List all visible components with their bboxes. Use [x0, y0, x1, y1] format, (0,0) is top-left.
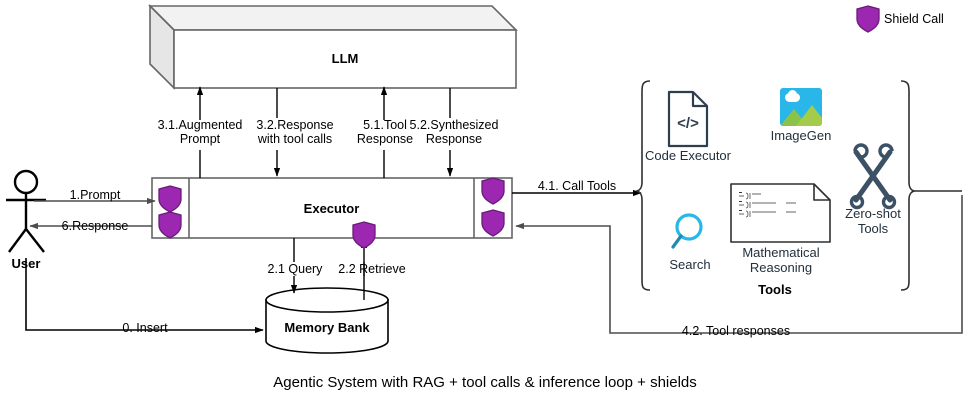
llm-node	[150, 6, 516, 88]
mountain-right	[796, 105, 822, 126]
user-label: User	[0, 256, 52, 271]
shield-icon-legend	[857, 6, 879, 32]
image-generation-icon	[780, 88, 822, 126]
legend-shield-label: Shield Call	[884, 12, 968, 26]
executor-label: Executor	[189, 201, 474, 216]
magnifier-icon	[673, 215, 701, 247]
tools-brace-left	[637, 81, 650, 290]
tool-label-search: Search	[654, 257, 726, 272]
tools-brace-right	[901, 81, 914, 290]
edge-label-retrieve: 2.2 Retrieve	[330, 262, 414, 276]
tools-group-label: Tools	[720, 282, 830, 297]
diagram-canvas: </>	[0, 0, 970, 411]
edge-label-insert: 0. Insert	[80, 321, 210, 335]
svg-text:</>: </>	[677, 115, 699, 132]
crossed-wrenches-icon	[856, 152, 890, 200]
edge-label-synthesized-response: 5.2.Synthesized Response	[396, 118, 512, 146]
tool-label-zero-shot-tools: Zero-shot Tools	[833, 206, 913, 236]
cloud-puff	[788, 90, 797, 99]
edge-label-query: 2.1 Query	[258, 262, 332, 276]
math-document-icon	[731, 184, 830, 242]
shield-icon-memory	[353, 222, 375, 248]
edge-insert	[26, 258, 263, 330]
tool-label-code-executor: Code Executor	[638, 148, 738, 163]
user-node	[6, 171, 46, 252]
edge-label-prompt: 1.Prompt	[42, 188, 148, 202]
tool-label-imagegen: ImageGen	[761, 128, 841, 143]
edge-label-response-tool-calls: 3.2.Response with tool calls	[236, 118, 354, 146]
llm-label: LLM	[174, 51, 516, 66]
tool-label-mathematical-reasoning: Mathematical Reasoning	[730, 245, 832, 275]
edge-label-response: 6.Response	[40, 219, 150, 233]
edge-label-tool-responses: 4.2. Tool responses	[662, 324, 810, 338]
diagram-caption: Agentic System with RAG + tool calls & i…	[0, 374, 970, 391]
edge-label-call-tools: 4.1. Call Tools	[529, 179, 625, 193]
code-document-icon: </>	[669, 92, 707, 146]
memory-bank-label: Memory Bank	[266, 320, 388, 335]
